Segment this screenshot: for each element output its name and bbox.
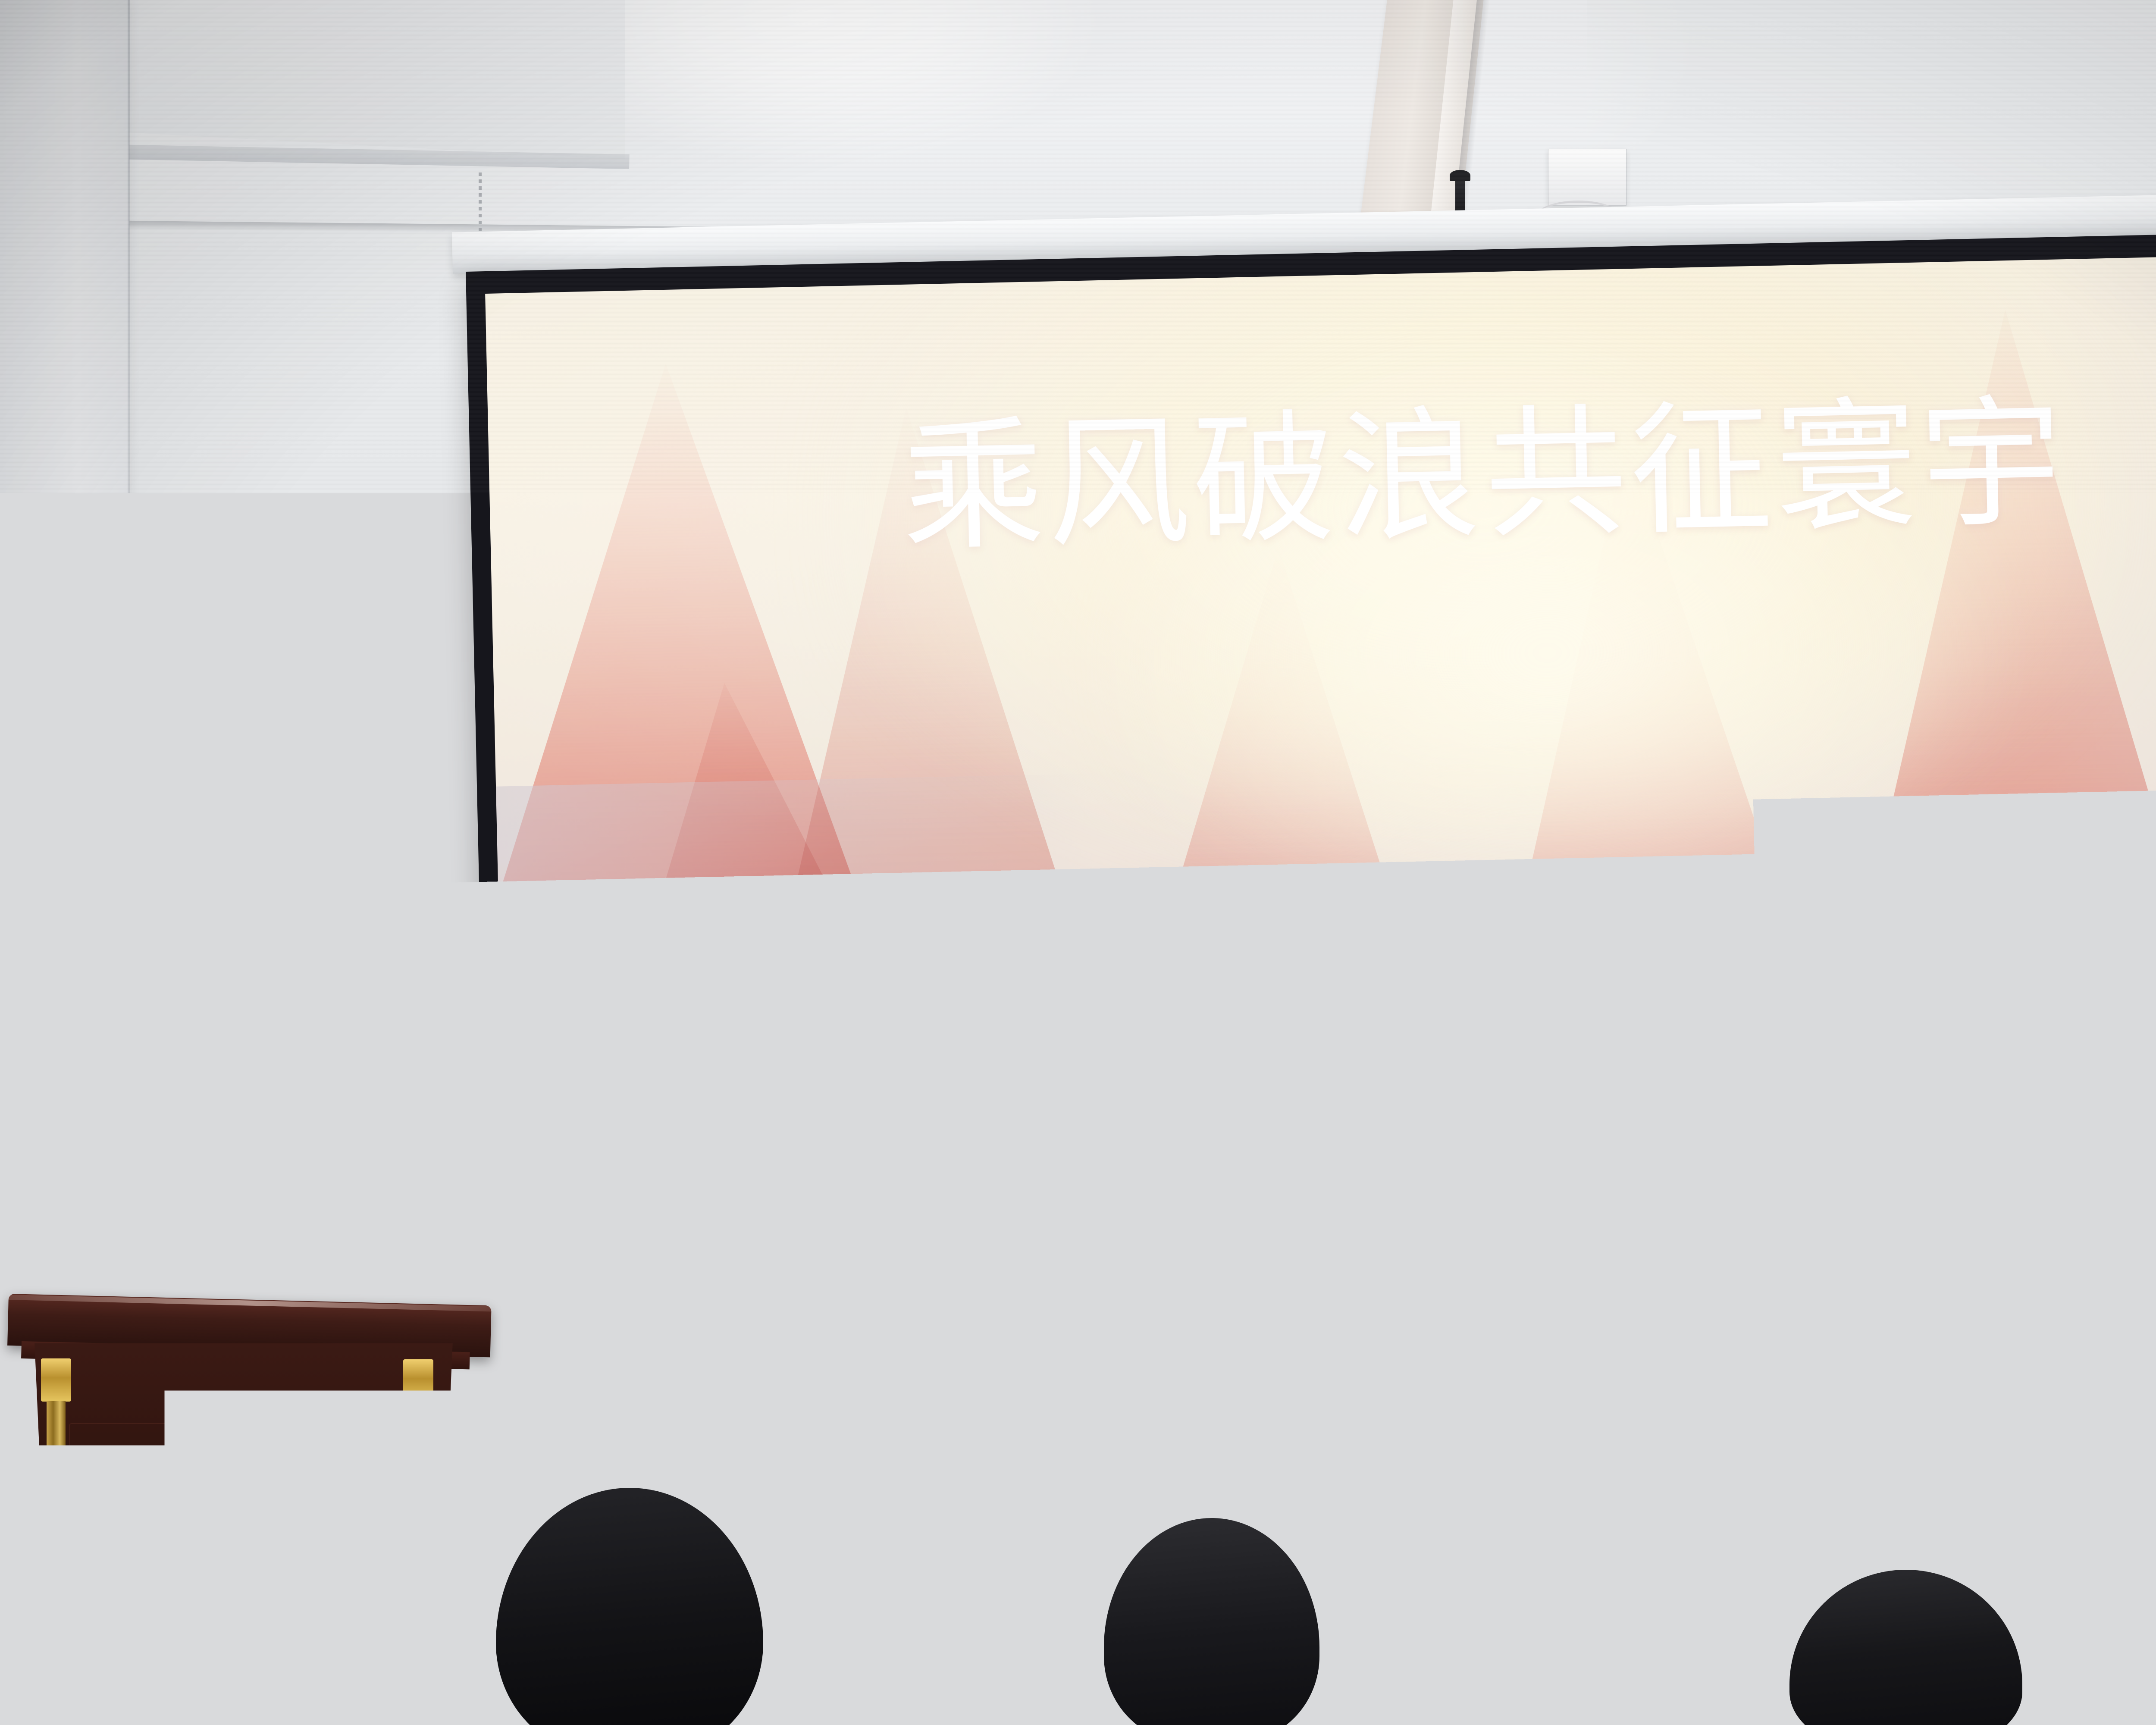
ceiling-device-box	[1548, 149, 1626, 206]
slide-byline: 汇报人：扈雨涵	[1373, 1286, 1631, 1340]
projection-screen-assembly: 乘风破浪 xx 共征寰宇 团委办公室工作总结报告 汇报人：扈雨涵	[466, 227, 2156, 1556]
presentation-hall-photo: 乘风破浪 xx 共征寰宇 团委办公室工作总结报告 汇报人：扈雨涵	[0, 0, 2156, 1725]
slide-title-line-2: 共征寰宇	[1483, 389, 2067, 552]
podium-gold-cap-left	[41, 1358, 71, 1402]
projected-slide: 乘风破浪 xx 共征寰宇 团委办公室工作总结报告 汇报人：扈雨涵	[485, 250, 2156, 1526]
slide-text-layer: 乘风破浪 xx 共征寰宇 团委办公室工作总结报告 汇报人：扈雨涵	[485, 250, 2156, 1526]
wall-mounted-device	[0, 733, 60, 785]
slide-title-block: 乘风破浪 xx 共征寰宇	[687, 384, 2156, 569]
slide-subtitle: 团委办公室工作总结报告	[1153, 1121, 1844, 1218]
podium-gold-column-right	[406, 1402, 427, 1725]
podium-gold-cap-right	[403, 1359, 433, 1402]
screen-frame: 乘风破浪 xx 共征寰宇 团委办公室工作总结报告 汇报人：扈雨涵	[466, 227, 2156, 1556]
slide-title-line-1: 乘风破浪	[901, 401, 1485, 565]
